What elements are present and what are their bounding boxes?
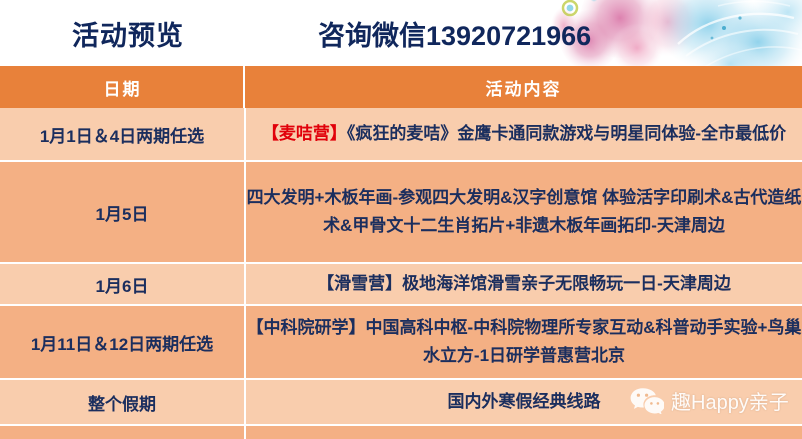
table-row: 1月6日 【滑雪营】极地海洋馆滑雪亲子无限畅玩一日-天津周边 <box>0 263 802 305</box>
cell-content: 【中科院研学】中国高科中枢-中科院物理所专家互动&科普动手实验+鸟巢水立方-1日… <box>245 305 802 379</box>
table-body: 1月1日＆4日两期任选 【麦咭营】《疯狂的麦咭》金鹰卡通同款游戏与明星同体验-全… <box>0 108 802 439</box>
table-row: 1月11日＆12日两期任选 【中科院研学】中国高科中枢-中科院物理所专家互动&科… <box>0 305 802 379</box>
cell-date-empty <box>0 425 245 439</box>
content-text: 《疯狂的麦咭》金鹰卡通同款游戏与明星同体验-全市最低价 <box>347 124 786 143</box>
banner-titles: 活动预览 咨询微信13920721966 <box>0 0 802 66</box>
table-header-row: 日期 活动内容 <box>0 66 802 108</box>
cell-date: 1月6日 <box>0 263 245 305</box>
page-title: 活动预览 <box>72 14 184 53</box>
highlight-tag: 【麦咭营】 <box>262 124 347 143</box>
activity-schedule-table: 日期 活动内容 1月1日＆4日两期任选 【麦咭营】《疯狂的麦咭》金鹰卡通同款游戏… <box>0 66 802 439</box>
cell-content: 【麦咭营】《疯狂的麦咭》金鹰卡通同款游戏与明星同体验-全市最低价 <box>245 108 802 161</box>
banner: 活动预览 咨询微信13920721966 <box>0 0 802 66</box>
column-header-content: 活动内容 <box>245 66 802 108</box>
cell-date: 整个假期 <box>0 379 245 425</box>
cell-content-empty <box>245 425 802 439</box>
cell-content: 四大发明+木板年画-参观四大发明&汉字创意馆 体验活字印刷术&古代造纸术&甲骨文… <box>245 161 802 263</box>
cell-content: 国内外寒假经典线路 <box>245 379 802 425</box>
table-row: 1月5日 四大发明+木板年画-参观四大发明&汉字创意馆 体验活字印刷术&古代造纸… <box>0 161 802 263</box>
table-row-trailing <box>0 425 802 439</box>
page-root: 活动预览 咨询微信13920721966 日期 活动内容 1月1日＆4日两期任选… <box>0 0 802 439</box>
table-row: 整个假期 国内外寒假经典线路 <box>0 379 802 425</box>
cell-content: 【滑雪营】极地海洋馆滑雪亲子无限畅玩一日-天津周边 <box>245 263 802 305</box>
column-header-date: 日期 <box>0 66 245 108</box>
cell-date: 1月11日＆12日两期任选 <box>0 305 245 379</box>
table-row: 1月1日＆4日两期任选 【麦咭营】《疯狂的麦咭》金鹰卡通同款游戏与明星同体验-全… <box>0 108 802 161</box>
cell-date: 1月1日＆4日两期任选 <box>0 108 245 161</box>
cell-date: 1月5日 <box>0 161 245 263</box>
wechat-contact-title: 咨询微信13920721966 <box>318 14 591 53</box>
